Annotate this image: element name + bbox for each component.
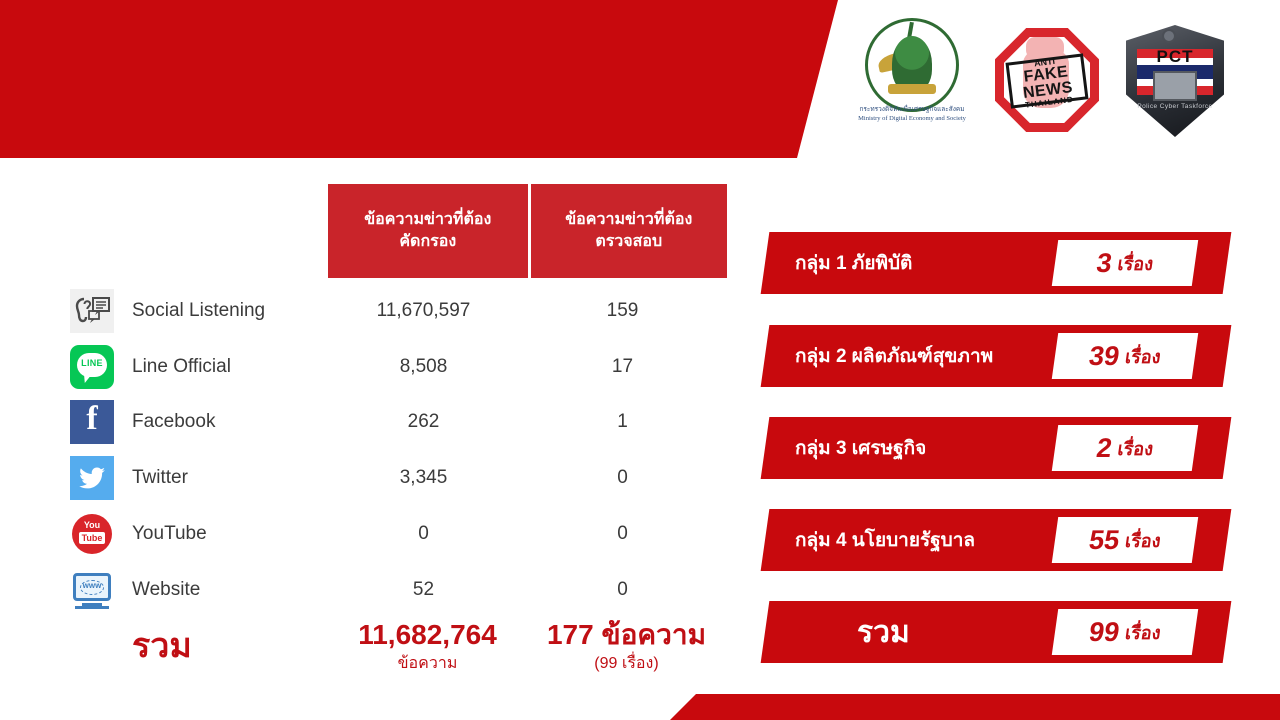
twitter-icon [70,456,114,500]
anti-fake-news-thailand-logo: ANTI FAKE NEWS THAILAND [990,22,1102,138]
column-header-verified-line1: ข้อความข่าวที่ต้อง [565,209,692,231]
row-icon-cell [66,289,118,333]
pct-wordmark: PCT [1138,47,1212,67]
monitor-base [75,606,109,609]
row-verified-value: 0 [523,579,722,601]
group-card-4-unit: เรื่อง [1123,526,1162,555]
group-card-total[interactable]: รวม 99 เรื่อง [761,601,1232,663]
row-verified-value: 1 [523,411,722,433]
group-card-total-value-box: 99 เรื่อง [1052,609,1198,655]
row-verified-value: 0 [523,523,722,545]
seal-caption-en: Ministry of Digital Economy and Society [852,115,972,124]
group-card-3-value: 2 [1095,433,1114,464]
group-card-2-value-box: 39 เรื่อง [1052,333,1198,379]
group-card-1[interactable]: กลุ่ม 1 ภัยพิบัติ 3 เรื่อง [761,232,1232,294]
column-header-verified-line2: ตรวจสอบ [565,231,692,253]
table-total-screened: 11,682,764 ข้อความ [328,620,527,676]
row-screened-value: 8,508 [324,356,523,378]
table-row: Social Listening 11,670,597 159 [66,288,728,334]
row-channel-label: Twitter [118,467,324,489]
group-card-2-label: กลุ่ม 2 ผลิตภัณฑ์สุขภาพ [795,325,993,387]
table-row: You Tube YouTube 0 0 [66,511,728,557]
circuit-chip-icon [1153,71,1197,101]
row-screened-value: 0 [324,523,523,545]
group-card-4-value: 55 [1087,525,1121,556]
row-channel-label: Facebook [118,411,324,433]
column-header-screened: ข้อความข่าวที่ต้อง คัดกรอง [328,184,528,278]
logo-row: กระทรวงดิจิทัลเพื่อเศรษฐกิจและสังคม Mini… [852,14,1230,146]
group-card-total-value: 99 [1087,617,1121,648]
table-row: LINE Line Official 8,508 17 [66,344,728,390]
table-total-screened-unit: ข้อความ [328,651,527,676]
table-total-verified-value: 177 ข้อความ [527,620,726,649]
row-channel-label: Website [118,579,324,601]
shield-emblem-top [1162,29,1176,43]
group-card-total-unit: เรื่อง [1123,618,1162,647]
column-header-verified: ข้อความข่าวที่ต้อง ตรวจสอบ [528,184,728,278]
row-screened-value: 52 [324,579,523,601]
group-card-4-value-box: 55 เรื่อง [1052,517,1198,563]
group-card-1-label: กลุ่ม 1 ภัยพิบัติ [795,232,912,294]
group-card-1-value: 3 [1095,248,1114,279]
group-card-4[interactable]: กลุ่ม 4 นโยบายรัฐบาล 55 เรื่อง [761,509,1232,571]
row-verified-value: 17 [523,356,722,378]
seal-pedestal [888,84,936,94]
row-screened-value: 11,670,597 [324,300,523,322]
group-card-1-value-box: 3 เรื่อง [1052,240,1198,286]
column-header-screened-line1: ข้อความข่าวที่ต้อง [364,209,491,231]
row-screened-value: 3,345 [324,467,523,489]
seal-caption: กระทรวงดิจิทัลเพื่อเศรษฐกิจและสังคม Mini… [852,106,972,124]
website-icon: www [70,568,114,612]
pct-subtitle: Police Cyber Taskforce [1126,103,1224,110]
row-icon-cell [66,456,118,500]
table-total-label: รวม [132,618,192,672]
table-total-screened-value: 11,682,764 [328,620,527,649]
line-wordmark: LINE [70,358,114,368]
group-card-1-unit: เรื่อง [1116,249,1155,278]
group-card-3-label: กลุ่ม 3 เศรษฐกิจ [795,417,926,479]
www-text: www [70,581,114,590]
row-channel-label: Line Official [118,356,324,378]
row-channel-label: YouTube [118,523,324,545]
ear-with-speech-bubble-glyph [70,289,114,333]
youtube-top-text: You [70,521,114,530]
table-row: Twitter 3,345 0 [66,455,728,501]
group-card-3-value-box: 2 เรื่อง [1052,425,1198,471]
twitter-bird-glyph [70,456,114,500]
table-row: www Website 52 0 [66,567,728,613]
social-listening-icon [70,289,114,333]
row-channel-label: Social Listening [118,300,324,322]
youtube-bottom-text: Tube [79,532,105,544]
row-icon-cell: www [66,568,118,612]
table-header: ข้อความข่าวที่ต้อง คัดกรอง ข้อความข่าวที… [328,184,727,278]
group-card-2-unit: เรื่อง [1123,342,1162,371]
column-header-screened-line2: คัดกรอง [364,231,491,253]
row-verified-value: 0 [523,467,722,489]
youtube-icon: You Tube [70,512,114,556]
row-screened-value: 262 [324,411,523,433]
group-card-total-label: รวม [857,601,910,663]
group-card-2-value: 39 [1087,341,1121,372]
table-total-verified-unit: (99 เรื่อง) [527,651,726,676]
ministry-of-digital-economy-and-society-seal: กระทรวงดิจิทัลเพื่อเศรษฐกิจและสังคม Mini… [852,14,972,146]
bottom-accent-strip [670,694,1280,720]
seal-caption-th: กระทรวงดิจิทัลเพื่อเศรษฐกิจและสังคม [852,106,972,115]
row-icon-cell: LINE [66,345,118,389]
group-card-3[interactable]: กลุ่ม 3 เศรษฐกิจ 2 เรื่อง [761,417,1232,479]
afn-label: ANTI FAKE NEWS THAILAND [1003,53,1090,112]
table-row: f Facebook 262 1 [66,399,728,445]
police-cyber-taskforce-logo: PCT Police Cyber Taskforce [1120,19,1230,141]
slide-canvas: กระบวนการดำเนินการของ AFNC ระหว่างวันที่… [0,0,1280,720]
line-icon: LINE [70,345,114,389]
group-card-4-label: กลุ่ม 4 นโยบายรัฐบาล [795,509,975,571]
header-banner [0,0,838,158]
group-card-3-unit: เรื่อง [1116,434,1155,463]
row-icon-cell: You Tube [66,512,118,556]
facebook-icon: f [70,400,114,444]
row-icon-cell: f [66,400,118,444]
table-total-verified: 177 ข้อความ (99 เรื่อง) [527,620,726,676]
row-verified-value: 159 [523,300,722,322]
group-card-2[interactable]: กลุ่ม 2 ผลิตภัณฑ์สุขภาพ 39 เรื่อง [761,325,1232,387]
facebook-glyph: f [70,402,114,436]
